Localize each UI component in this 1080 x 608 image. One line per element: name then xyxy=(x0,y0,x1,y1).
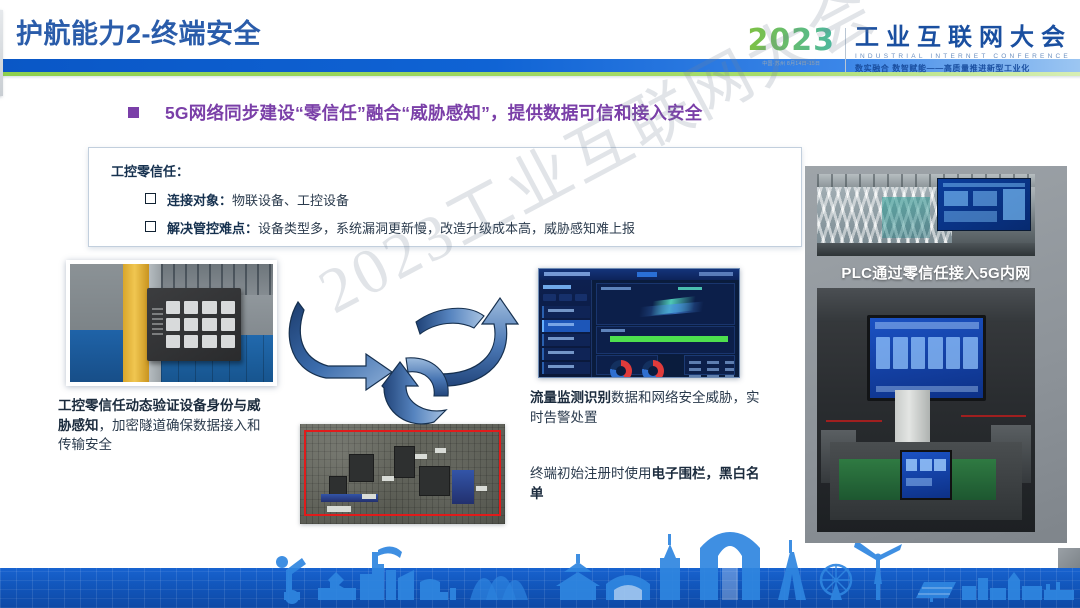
logo-text-block: 工业互联网大会 INDUSTRIAL INTERNET CONFERENCE 数… xyxy=(855,26,1072,74)
main-bullet-text: 5G网络同步建设“零信任”融合“威胁感知”，提供数据可信和接入安全 xyxy=(165,100,702,125)
infobox-row: 连接对象： 物联设备、工控设备 xyxy=(145,190,349,209)
blue-base-left xyxy=(70,330,123,382)
dashboard-table-card xyxy=(684,355,735,375)
logo-divider xyxy=(845,28,846,72)
logo-chinese-subtitle: 数实融合 数智赋能——高质量推进新型工业化 xyxy=(855,63,1072,74)
workshop-monitor-photo xyxy=(817,288,1035,532)
logo-main-title: 工业互联网大会 xyxy=(855,26,1072,50)
right-panel-caption: PLC通过零信任接入5G内网 xyxy=(805,262,1067,283)
conference-logo: 2023 中国·苏州 8月14日-15日 工业互联网大会 INDUSTRIAL … xyxy=(748,26,1073,74)
panel-side-tab xyxy=(0,10,3,96)
caption-flow-monitoring: 流量监测识别数据和网络安全威胁，实时告警处置 xyxy=(530,388,770,427)
pillar-yellow xyxy=(123,264,149,382)
infobox-row: 解决管控难点： 设备类型多，系统漏洞更新慢，改造升级成本高，威胁感知难上报 xyxy=(145,218,635,237)
checkbox-square-icon xyxy=(145,221,156,232)
corridor-teal-equipment xyxy=(882,197,930,238)
factory-corridor-photo xyxy=(817,174,1035,256)
infobox-row-lead: 连接对象： xyxy=(167,190,232,209)
caption-terminal-registration: 终端初始注册时使用电子围栏，黑白名单 xyxy=(530,464,770,503)
main-bullet: 5G网络同步建设“零信任”融合“威胁感知”，提供数据可信和接入安全 xyxy=(128,100,702,125)
infobox-row-rest: 物联设备、工控设备 xyxy=(232,190,349,209)
caption-terminal-rest: 终端初始注册时使用 xyxy=(530,466,652,481)
dashboard-main xyxy=(592,280,739,377)
header-bar-shadow xyxy=(0,76,1080,79)
logo-year-subtitle: 中国·苏州 8月14日-15日 xyxy=(762,60,820,67)
red-highlight-rectangle xyxy=(304,430,501,516)
dashboard-topbar xyxy=(539,269,739,280)
traffic-monitoring-dashboard-screenshot xyxy=(538,268,740,378)
page-title: 护航能力2-终端安全 xyxy=(16,12,261,51)
dashboard-sidebar xyxy=(539,280,592,377)
industrial-control-keypad-photo xyxy=(66,260,277,386)
checkbox-square-icon xyxy=(145,193,156,204)
keypad-device xyxy=(147,288,240,361)
logo-year-block: 2023 中国·苏州 8月14日-15日 xyxy=(748,26,846,67)
infobox-row-lead: 解决管控难点： xyxy=(167,218,258,237)
corridor-floor xyxy=(817,243,1035,256)
logo-english-title: INDUSTRIAL INTERNET CONFERENCE xyxy=(855,53,1072,60)
zero-trust-infobox: 工控零信任： 连接对象： 物联设备、工控设备 解决管控难点： 设备类型多，系统漏… xyxy=(88,147,802,247)
corner-marker xyxy=(1058,548,1080,568)
wall-display-screen xyxy=(937,178,1031,231)
right-photo-panel: PLC通过零信任接入5G内网 xyxy=(805,166,1067,543)
three-curved-blue-arrows-icon xyxy=(288,262,528,437)
infobox-row-rest: 设备类型多，系统漏洞更新慢，改造升级成本高，威胁感知难上报 xyxy=(258,218,635,237)
square-bullet-icon xyxy=(128,107,139,118)
slide: 护航能力2-终端安全 2023 中国·苏州 8月14日-15日 工业互联网大会 … xyxy=(0,0,1080,608)
caption-flow-bold: 流量监测识别 xyxy=(530,390,611,405)
caption-left: 工控零信任动态验证设备身份与威胁感知，加密隧道确保数据接入和传输安全 xyxy=(58,396,273,455)
keypad-buttons xyxy=(166,301,235,348)
operator-terminal-screen xyxy=(900,450,952,500)
infobox-title: 工控零信任： xyxy=(111,161,189,180)
large-wall-monitor xyxy=(867,315,986,402)
device-label xyxy=(152,308,163,337)
circuit-board-photo xyxy=(300,424,505,524)
logo-year: 2023 xyxy=(748,26,836,56)
